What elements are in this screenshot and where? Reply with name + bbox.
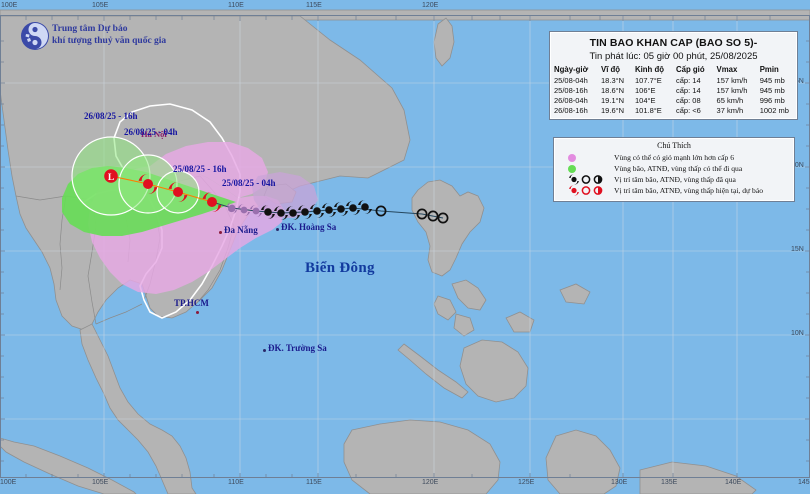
city-dot-tp-hcm xyxy=(196,311,199,314)
green-dot-icon xyxy=(568,165,576,173)
table-row: 25/08-16h 18.6°N 106°E cấp: 14 157 km/h … xyxy=(550,85,797,95)
legend-symbol-wrap xyxy=(568,154,614,162)
col-header-windlevel: Cấp gió xyxy=(672,65,713,75)
table-row: 26/08-04h 19.1°N 104°E cấp: 08 65 km/h 9… xyxy=(550,95,797,105)
forecast-label-25-08-04h: 25/08/25 - 04h xyxy=(222,178,276,188)
legend-item-gale-area: Vùng có thể có gió mạnh lớn hơn cấp 6 xyxy=(554,152,794,163)
island-dot-hoang-sa xyxy=(276,228,279,231)
cell-vmax: 157 km/h xyxy=(713,85,756,95)
landmass-mindanao xyxy=(460,340,528,402)
legend-box: Chú Thích Vùng có thể có gió mạnh lớn hơ… xyxy=(553,137,795,202)
legend-label-gale-area: Vùng có thể có gió mạnh lớn hơn cấp 6 xyxy=(614,153,734,162)
black-cyclone-circle-depression-icon xyxy=(568,174,612,185)
cell-pmin: 945 mb xyxy=(756,85,797,95)
col-header-longitude: Kinh độ xyxy=(631,65,672,75)
bulletin-issued-time: Tin phát lúc: 05 giờ 00 phút, 25/08/2025 xyxy=(550,49,797,65)
cell-datetime: 25/08-04h xyxy=(550,75,597,85)
legend-symbol-wrap xyxy=(568,165,614,173)
red-cyclone-circle-depression-icon xyxy=(568,185,612,196)
table-row: 25/08-04h 18.3°N 107.7°E cấp: 14 157 km/… xyxy=(550,75,797,85)
table-row: 26/08-16h 19.6°N 101.8°E cấp: <6 37 km/h… xyxy=(550,105,797,115)
cell-longitude: 107.7°E xyxy=(631,75,672,85)
cell-pmin: 996 mb xyxy=(756,95,797,105)
legend-title: Chú Thích xyxy=(554,138,794,152)
place-label-truong-sa: ĐK. Trường Sa xyxy=(268,343,327,353)
cell-datetime: 26/08-04h xyxy=(550,95,597,105)
cell-latitude: 18.3°N xyxy=(597,75,631,85)
col-header-vmax: Vmax xyxy=(713,65,756,75)
forecast-label-26-08-16h: 26/08/25 - 16h xyxy=(84,111,138,121)
cell-vmax: 37 km/h xyxy=(713,105,756,115)
legend-label-current-forecast-positions: Vị trí tâm bão, ATNĐ, vùng thấp hiện tại… xyxy=(614,186,763,195)
svg-text:L: L xyxy=(108,173,114,183)
landmass-taiwan xyxy=(434,18,454,66)
cell-latitude: 18.6°N xyxy=(597,85,631,95)
landmass-negros xyxy=(454,314,474,336)
landmass-misc-island-2 xyxy=(560,284,590,304)
cell-vmax: 65 km/h xyxy=(713,95,756,105)
sea-label-bien-dong: Biển Đông xyxy=(305,260,375,277)
cell-windlevel: cấp: <6 xyxy=(672,105,713,115)
cell-datetime: 25/08-16h xyxy=(550,85,597,95)
cell-datetime: 26/08-16h xyxy=(550,105,597,115)
agency-name-line2: khí tượng thuỷ văn quốc gia xyxy=(52,35,166,47)
landmass-malay-peninsula xyxy=(80,324,196,494)
cell-latitude: 19.6°N xyxy=(597,105,631,115)
place-label-tp-hcm: TP.HCM xyxy=(174,298,209,308)
forecast-label-26-08-04h: 26/08/25 - 04h xyxy=(124,127,178,137)
cell-longitude: 106°E xyxy=(631,85,672,95)
legend-symbol-wrap xyxy=(568,174,614,185)
landmass-sumatra xyxy=(0,438,136,494)
col-header-latitude: Vĩ độ xyxy=(597,65,631,75)
agency-name-line1: Trung tâm Dự báo xyxy=(52,23,166,35)
place-label-da-nang: Đa Nẵng xyxy=(224,225,258,235)
cell-vmax: 157 km/h xyxy=(713,75,756,85)
cell-longitude: 104°E xyxy=(631,95,672,105)
table-header-row: Ngày-giờ Vĩ độ Kinh độ Cấp gió Vmax Pmin xyxy=(550,65,797,75)
bulletin-title: TIN BAO KHAN CAP (BAO SO 5)- xyxy=(550,32,797,49)
legend-symbol-wrap xyxy=(568,185,614,196)
landmass-palawan xyxy=(398,344,468,398)
storm-warning-map: L 100E 105E 110E 115E 120E 100E 105E 110… xyxy=(0,0,810,494)
nchmf-logo xyxy=(20,21,50,51)
place-label-hoang-sa: ĐK. Hoàng Sa xyxy=(281,222,336,232)
legend-item-current-forecast-positions: Vị trí tâm bão, ATNĐ, vùng thấp hiện tại… xyxy=(554,185,794,196)
legend-item-storm-passage: Vùng bão, ATNĐ, vùng thấp có thể đi qua xyxy=(554,163,794,174)
cell-windlevel: cấp: 14 xyxy=(672,85,713,95)
legend-label-past-positions: Vị trí tâm bão, ATNĐ, vùng thấp đã qua xyxy=(614,175,736,184)
bulletin-forecast-table: Ngày-giờ Vĩ độ Kinh độ Cấp gió Vmax Pmin… xyxy=(550,65,797,115)
landmass-luzon xyxy=(412,180,484,276)
cell-windlevel: cấp: 14 xyxy=(672,75,713,85)
legend-label-storm-passage: Vùng bão, ATNĐ, vùng thấp có thể đi qua xyxy=(614,164,742,173)
cell-latitude: 19.1°N xyxy=(597,95,631,105)
cell-windlevel: cấp: 08 xyxy=(672,95,713,105)
bulletin-info-box: TIN BAO KHAN CAP (BAO SO 5)- Tin phát lú… xyxy=(549,31,798,120)
landmass-sulawesi xyxy=(546,430,620,494)
cell-pmin: 945 mb xyxy=(756,75,797,85)
col-header-datetime: Ngày-giờ xyxy=(550,65,597,75)
legend-item-past-positions: Vị trí tâm bão, ATNĐ, vùng thấp đã qua xyxy=(554,174,794,185)
agency-name: Trung tâm Dự báo khí tượng thuỷ văn quốc… xyxy=(52,23,166,47)
city-dot-da-nang xyxy=(219,231,222,234)
col-header-pmin: Pmin xyxy=(756,65,797,75)
forecast-label-25-08-16h: 25/08/25 - 16h xyxy=(173,164,227,174)
cell-pmin: 1002 mb xyxy=(756,105,797,115)
island-dot-truong-sa xyxy=(263,349,266,352)
landmass-panay xyxy=(434,296,456,320)
landmass-visayas xyxy=(452,280,486,310)
cell-longitude: 101.8°E xyxy=(631,105,672,115)
violet-dot-icon xyxy=(568,154,576,162)
